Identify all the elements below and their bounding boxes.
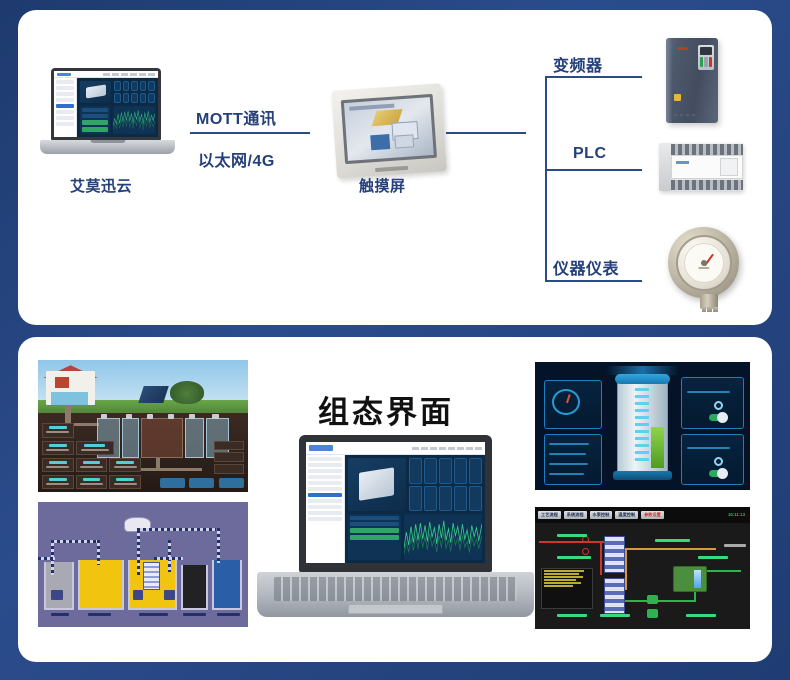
thumbnail-heat-station-scada[interactable]: 工艺流程 系统流程 水泵控制 温度控制 参数设置 16:11:13 bbox=[535, 507, 750, 629]
scada-control-block-full bbox=[348, 514, 401, 560]
scada-control-block bbox=[80, 106, 110, 134]
scada-dashboard-full bbox=[306, 442, 485, 563]
heat-station-clock: 16:11:13 bbox=[726, 510, 747, 519]
link-label-transport: 以太网/4G bbox=[198, 147, 275, 171]
pressure-gauge-icon bbox=[666, 225, 748, 307]
branch-label-meter: 仪器仪表 bbox=[553, 255, 619, 279]
node-label-cloud: 艾莫迅云 bbox=[70, 175, 132, 196]
scada-body bbox=[54, 78, 158, 137]
branch-line-vfd bbox=[545, 76, 642, 78]
tab-system[interactable]: 系统流程 bbox=[564, 511, 587, 520]
gallery-title: 组态界面 bbox=[318, 387, 454, 432]
scada-status-tiles-full bbox=[409, 458, 482, 511]
center-laptop-keyboard[interactable] bbox=[274, 577, 518, 602]
branch-label-plc: PLC bbox=[573, 145, 607, 163]
scada-main bbox=[77, 78, 158, 137]
scada-logo-icon bbox=[57, 73, 71, 76]
center-laptop-lid bbox=[299, 435, 492, 572]
node-label-hmi: 触摸屏 bbox=[359, 175, 406, 196]
hmi-touch-panel-device bbox=[331, 83, 447, 178]
cloud-platform-laptop bbox=[40, 68, 175, 158]
link-divider-line bbox=[190, 132, 310, 134]
scada-menu-items bbox=[73, 73, 155, 76]
center-laptop-screen bbox=[306, 442, 485, 563]
hmi-brand-mark bbox=[375, 166, 408, 172]
tab-temp[interactable]: 温度控制 bbox=[615, 511, 638, 520]
architecture-diagram-card: 艾莫迅云 MOTT通讯 以太网/4G 触摸屏 变频器 PLC 仪器仪表 bbox=[18, 10, 772, 325]
thumbnail-boiler-dashboard[interactable] bbox=[535, 362, 750, 490]
branch-line-plc bbox=[545, 169, 642, 171]
heat-station-tabbar: 工艺流程 系统流程 水泵控制 温度控制 参数设置 16:11:13 bbox=[535, 507, 750, 523]
scada-sidebar-full bbox=[306, 455, 345, 563]
branch-line-meter bbox=[545, 280, 642, 282]
scada-trend-chart bbox=[113, 106, 155, 134]
link-label-protocol: MOTT通讯 bbox=[196, 105, 276, 129]
scada-topbar bbox=[54, 71, 158, 78]
thumbnail-septic-tank-hmi[interactable] bbox=[38, 360, 248, 492]
plc-device-icon bbox=[659, 143, 743, 191]
branch-label-vfd: 变频器 bbox=[553, 52, 603, 76]
center-laptop-trackpad[interactable] bbox=[348, 604, 442, 614]
scada-menu-items bbox=[335, 447, 482, 450]
laptop-lid bbox=[51, 68, 161, 140]
vfd-device-icon bbox=[666, 38, 718, 123]
laptop-base bbox=[40, 140, 175, 154]
scada-topbar-full bbox=[306, 442, 485, 455]
thumbnail-sewage-process-hmi[interactable] bbox=[38, 502, 248, 627]
hmi-to-bracket-line bbox=[446, 132, 526, 134]
scada-status-tiles bbox=[114, 81, 155, 103]
scada-3d-model-full bbox=[348, 458, 405, 511]
scada-logo-icon bbox=[309, 445, 333, 451]
tab-pump[interactable]: 水泵控制 bbox=[590, 511, 613, 520]
tab-settings[interactable]: 参数设置 bbox=[641, 511, 664, 520]
hmi-screen bbox=[344, 97, 434, 161]
scada-trend-chart-full bbox=[404, 514, 482, 560]
configuration-software-laptop bbox=[257, 435, 534, 623]
scada-3d-model bbox=[80, 81, 112, 103]
laptop-screen bbox=[54, 71, 158, 137]
scada-sidebar bbox=[54, 78, 77, 137]
configuration-gallery-card: 组态界面 bbox=[18, 337, 772, 662]
branch-bracket-vertical bbox=[545, 76, 547, 282]
scada-dashboard-preview bbox=[54, 71, 158, 137]
tab-process[interactable]: 工艺流程 bbox=[538, 511, 561, 520]
center-laptop-base bbox=[257, 572, 534, 617]
